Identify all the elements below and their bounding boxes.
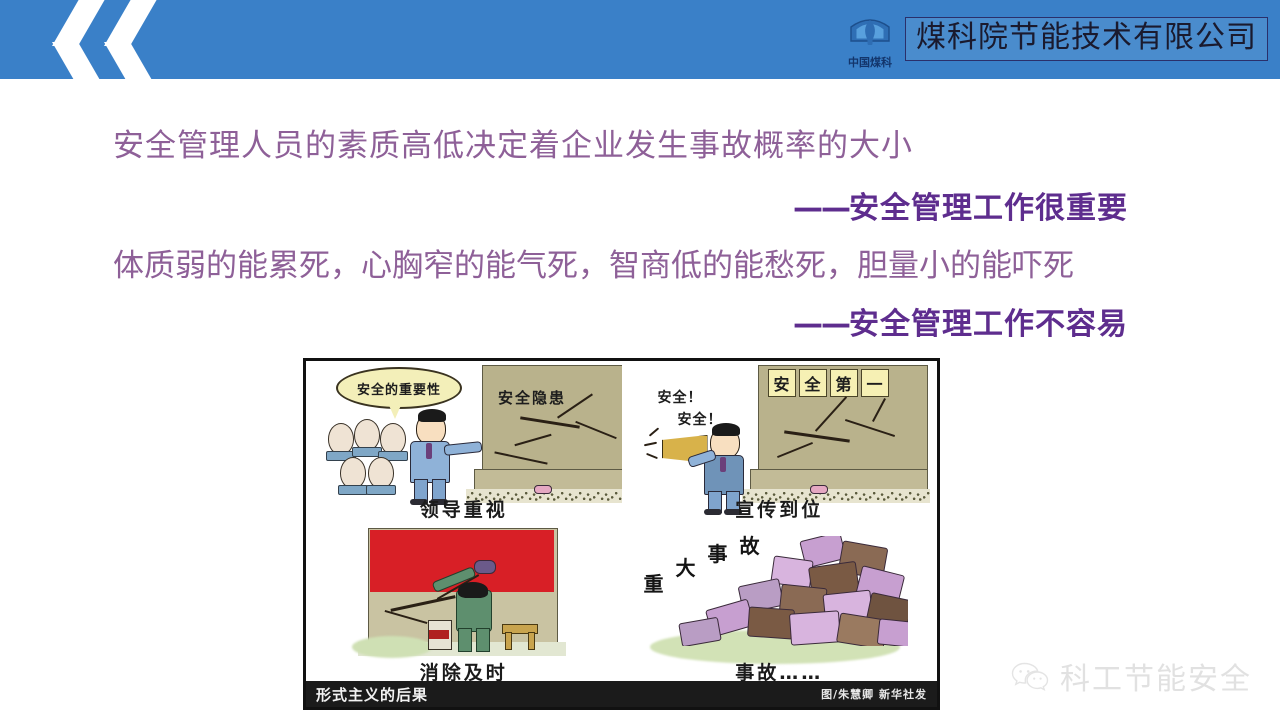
company-name-box: 煤科院节能技术有限公司 — [905, 17, 1268, 61]
worker-hair — [458, 582, 488, 598]
china-coal-logo-icon — [847, 11, 893, 49]
worker-leg-left — [458, 628, 472, 652]
slide-line-4: ——安全管理工作不容易 — [793, 299, 1128, 343]
cartoon-bottom-bar: 形式主义的后果 图/朱慧卿 新华社发 — [306, 681, 937, 707]
cracked-wall — [482, 365, 622, 475]
wall-hazard-text: 安全隐患 — [498, 387, 566, 408]
banner-char-2: 全 — [799, 369, 827, 397]
stool-leg-left — [505, 632, 512, 650]
safety-first-banner: 安 全 第 一 — [768, 369, 889, 397]
debris-2 — [810, 485, 828, 494]
cartoon-panel-publicity: 安 全 第 一 安全！ 安全！ — [622, 361, 938, 524]
paint-roller — [474, 560, 496, 574]
slide-line-3: 体质弱的能累死，心胸窄的能气死，智商低的能愁死，胆量小的能吓死 — [113, 240, 1074, 285]
banner-char-1: 安 — [768, 369, 796, 397]
big-char-da: 大 — [676, 552, 696, 581]
cartoon-panel-accident: 重 大 事 故 事故…… — [622, 524, 938, 687]
cartoon-credit: 图/朱慧卿 新华社发 — [821, 686, 927, 702]
cartoon-bottom-title: 形式主义的后果 — [316, 684, 428, 705]
sound-line-3 — [646, 453, 658, 459]
brand-group: 中国煤科 煤科院节能技术有限公司 — [839, 8, 1268, 70]
logo-caption: 中国煤科 — [839, 57, 901, 69]
wechat-icon — [1010, 660, 1050, 692]
slide-header: 中国煤科 煤科院节能技术有限公司 — [0, 0, 1280, 79]
slide-line-2-dash: —— — [793, 191, 849, 226]
announcer-tie — [720, 457, 726, 472]
slide-line-1: 安全管理人员的素质高低决定着企业发生事故概率的大小 — [113, 120, 913, 165]
big-char-gu: 故 — [740, 530, 760, 559]
sound-line-2 — [643, 442, 656, 447]
chevron-right-icon-2 — [104, 0, 166, 79]
sound-line-1 — [648, 427, 658, 436]
rock-14 — [678, 617, 722, 646]
leader-hair — [418, 409, 446, 422]
cartoon-panel-grid: 安全隐患 安全的重要性 — [306, 361, 937, 687]
rock-11 — [747, 606, 795, 639]
wechat-watermark-text: 科工节能安全 — [1060, 654, 1252, 698]
cartoon-illustration: 安全隐患 安全的重要性 — [303, 358, 940, 710]
wechat-watermark: 科工节能安全 — [1010, 654, 1252, 698]
stool-leg-right — [528, 632, 535, 650]
banner-char-3: 第 — [830, 369, 858, 397]
speech-bubble-tail — [388, 403, 402, 419]
panel-caption-1: 领导重视 — [306, 495, 622, 522]
worker-leg-right — [476, 628, 490, 652]
egg-base-4 — [338, 485, 368, 495]
cartoon-panel-leadership: 安全隐患 安全的重要性 — [306, 361, 622, 524]
speech-bubble-text: 安全的重要性 — [357, 379, 441, 398]
slide-line-2: ——安全管理工作很重要 — [793, 183, 1128, 227]
debris — [534, 485, 552, 494]
banner-char-4: 一 — [861, 369, 889, 397]
panel-caption-2: 宣传到位 — [622, 495, 938, 522]
company-name-text: 煤科院节能技术有限公司 — [916, 21, 1257, 55]
slide-line-2-text: 安全管理工作很重要 — [849, 191, 1128, 226]
paint-can-band — [429, 630, 449, 639]
company-logo: 中国煤科 — [839, 9, 901, 69]
big-char-zhong: 重 — [644, 568, 664, 597]
egg-base-5 — [366, 485, 396, 495]
slide-line-4-text: 安全管理工作不容易 — [849, 307, 1128, 342]
rock-15 — [876, 618, 907, 646]
cartoon-panel-elimination: 消除及时 — [306, 524, 622, 687]
shout-text-1: 安全！ — [658, 387, 703, 407]
big-char-shi: 事 — [708, 538, 728, 567]
rock-12 — [788, 610, 840, 645]
grass-patch — [352, 636, 432, 658]
leader-tie — [426, 443, 432, 459]
slide-line-4-dash: —— — [793, 307, 849, 342]
announcer-hair — [712, 423, 740, 436]
